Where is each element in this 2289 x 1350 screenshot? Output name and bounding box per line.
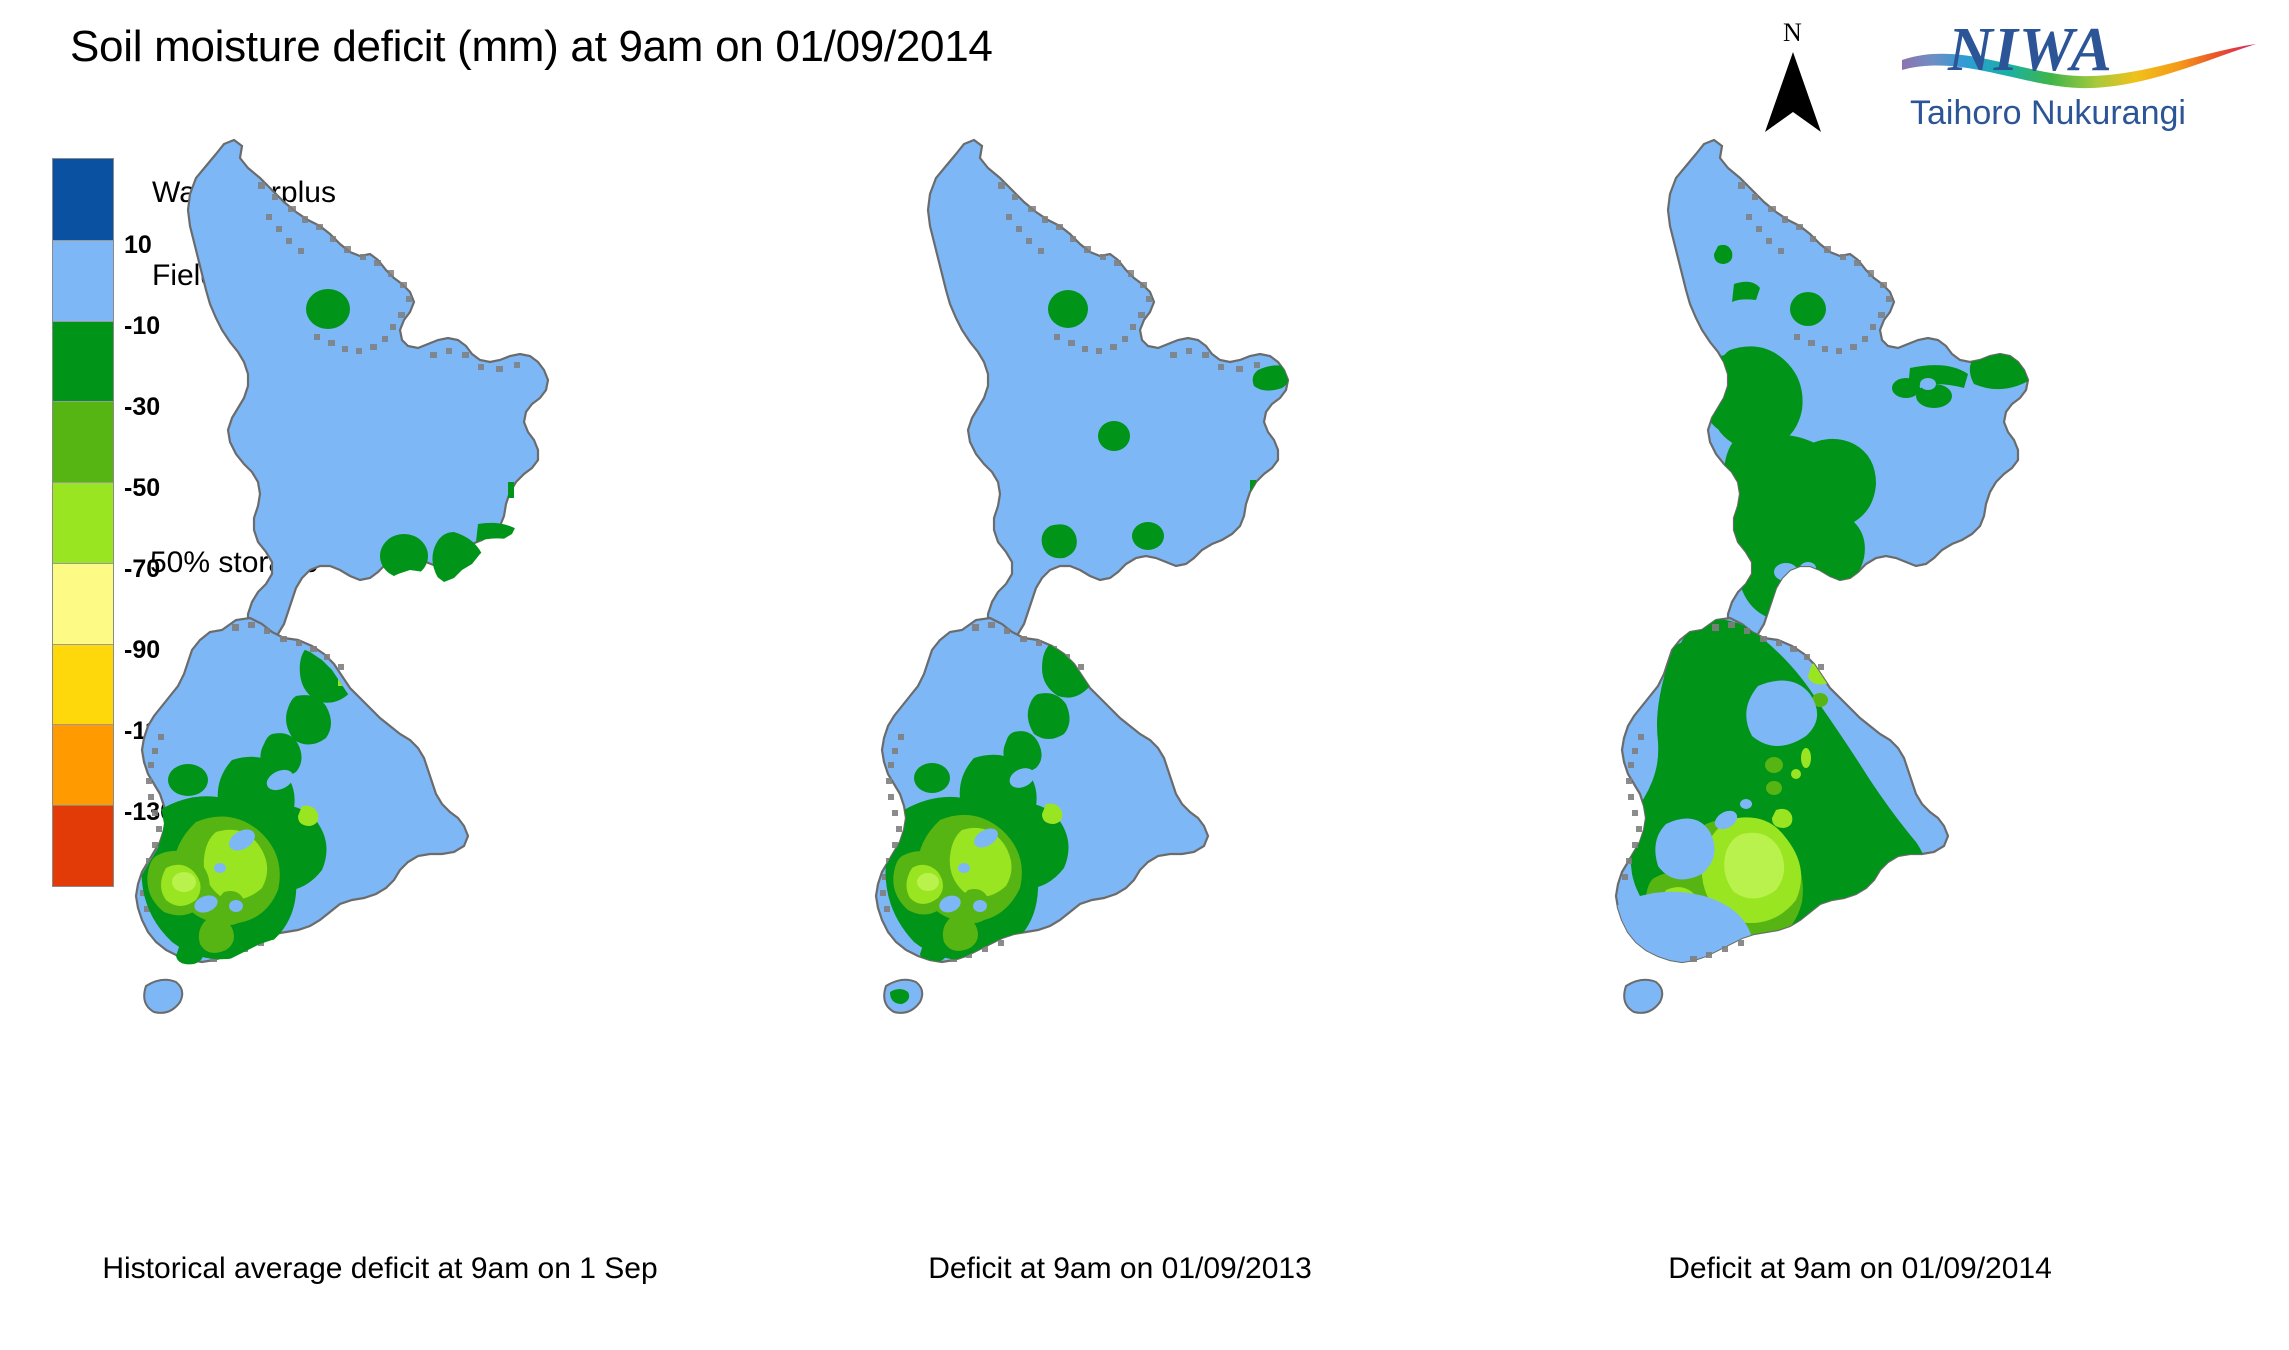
map-panel-historical[interactable]: Historical average deficit at 9am on 1 S… [10,120,750,1300]
north-island-historical [188,140,562,642]
panel-caption-historical: Historical average deficit at 9am on 1 S… [10,1252,750,1286]
south-island-historical [136,618,468,1013]
north-island-2013 [928,140,1290,642]
south-island-2014 [1611,618,1948,1013]
panel-caption-2014: Deficit at 9am on 01/09/2014 [1490,1252,2230,1286]
map-panel-2013[interactable]: Deficit at 9am on 01/09/2013 [750,120,1490,1300]
deficit-areas-south-island-2014 [1611,619,1927,970]
page-title: Soil moisture deficit (mm) at 9am on 01/… [70,22,993,72]
north-island-2014 [1668,140,2038,682]
svg-text:NIWA: NIWA [1947,16,2113,84]
north-label: N [1783,18,1802,48]
north-arrow: N [1755,22,1845,132]
nz-map-2013 [750,120,1490,1235]
nz-map-2014 [1490,120,2230,1235]
panel-caption-2013: Deficit at 9am on 01/09/2013 [750,1252,1490,1286]
map-panel-2014[interactable]: Deficit at 9am on 01/09/2014 [1490,120,2230,1300]
nz-map-historical [10,120,750,1235]
south-island-2013 [876,618,1208,1013]
